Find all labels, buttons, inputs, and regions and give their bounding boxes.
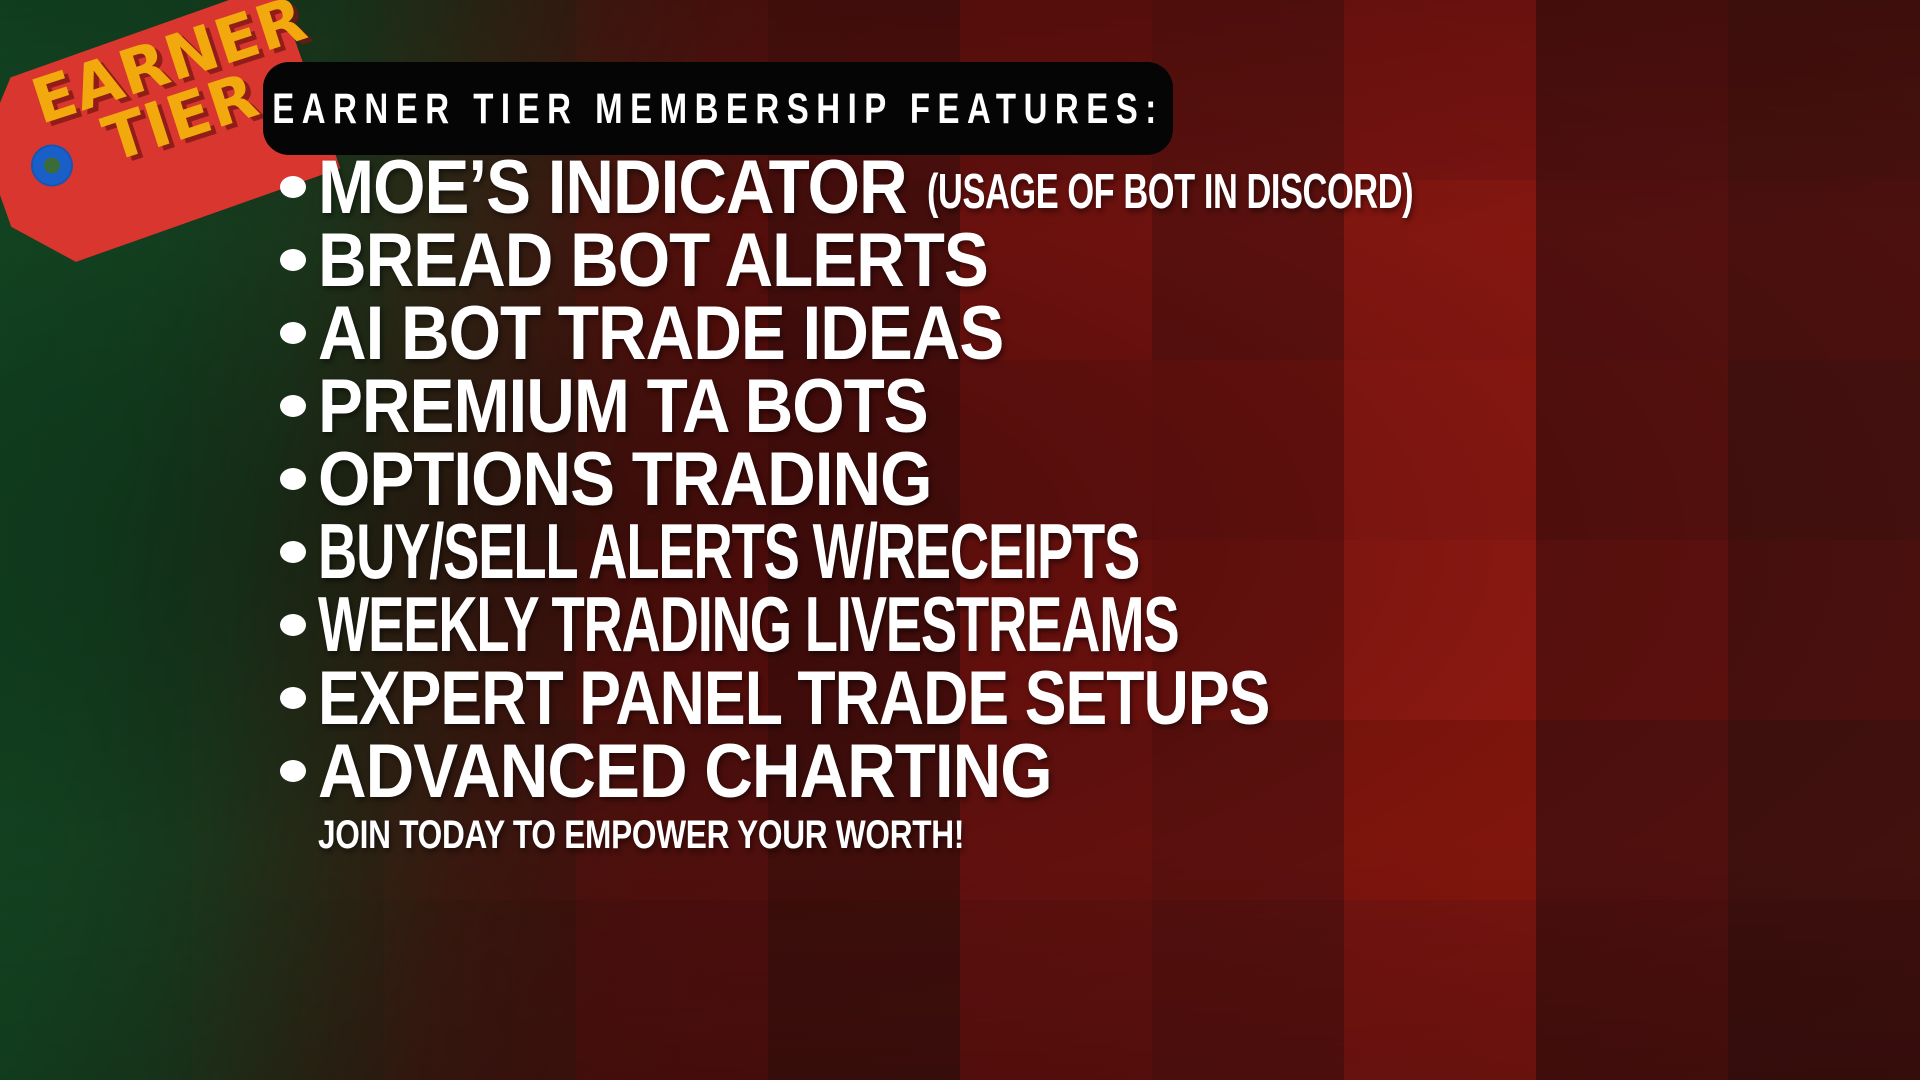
- feature-label: WEEKLY TRADING LIVESTREAMS: [318, 586, 1178, 664]
- feature-label: MOE’S INDICATOR: [318, 148, 907, 224]
- feature-item: ADVANCED CHARTING: [272, 734, 1892, 807]
- feature-item: BUY/SELL ALERTS W/RECEIPTS: [272, 515, 1892, 588]
- promo-graphic: EARNER TIER EARNER TIER MEMBERSHIP FEATU…: [0, 0, 1920, 1080]
- header-banner: EARNER TIER MEMBERSHIP FEATURES:: [263, 62, 1173, 155]
- bullet-icon: [272, 614, 318, 636]
- feature-text-wrap: BUY/SELL ALERTS W/RECEIPTS: [318, 518, 1344, 586]
- feature-label: PREMIUM TA BOTS: [318, 367, 928, 443]
- feature-item: PREMIUM TA BOTS: [272, 369, 1892, 442]
- feature-text-wrap: BREAD BOT ALERTS: [318, 226, 995, 294]
- feature-item: MOE’S INDICATOR(USAGE OF BOT IN DISCORD): [272, 150, 1892, 223]
- feature-item: BREAD BOT ALERTS: [272, 223, 1892, 296]
- feature-item: AI BOT TRADE IDEAS: [272, 296, 1892, 369]
- feature-item: EXPERT PANEL TRADE SETUPS: [272, 661, 1892, 734]
- feature-item: WEEKLY TRADING LIVESTREAMS: [272, 588, 1892, 661]
- feature-text-wrap: MOE’S INDICATOR(USAGE OF BOT IN DISCORD): [318, 153, 1492, 221]
- bullet-icon: [272, 687, 318, 709]
- footer-cta: JOIN TODAY TO EMPOWER YOUR WORTH!: [272, 807, 1892, 863]
- feature-label: OPTIONS TRADING: [318, 440, 931, 516]
- feature-text-wrap: WEEKLY TRADING LIVESTREAMS: [318, 591, 1394, 659]
- feature-text-wrap: PREMIUM TA BOTS: [318, 372, 934, 440]
- bullet-icon: [272, 468, 318, 490]
- feature-note: (USAGE OF BOT IN DISCORD): [927, 165, 1413, 220]
- footer-cta-text: JOIN TODAY TO EMPOWER YOUR WORTH!: [318, 812, 964, 858]
- feature-text-wrap: ADVANCED CHARTING: [318, 737, 1059, 805]
- bullet-icon: [272, 322, 318, 344]
- feature-list: MOE’S INDICATOR(USAGE OF BOT IN DISCORD)…: [272, 150, 1892, 863]
- feature-label: EXPERT PANEL TRADE SETUPS: [318, 659, 1269, 735]
- bullet-icon: [272, 395, 318, 417]
- bullet-icon: [272, 176, 318, 198]
- feature-text-wrap: AI BOT TRADE IDEAS: [318, 299, 1010, 367]
- bullet-icon: [272, 760, 318, 782]
- feature-label: BREAD BOT ALERTS: [318, 221, 988, 297]
- feature-text-wrap: OPTIONS TRADING: [318, 445, 938, 513]
- feature-item: OPTIONS TRADING: [272, 442, 1892, 515]
- bullet-icon: [272, 541, 318, 563]
- header-title: EARNER TIER MEMBERSHIP FEATURES:: [272, 84, 1164, 133]
- feature-text-wrap: EXPERT PANEL TRADE SETUPS: [318, 664, 1352, 732]
- feature-label: AI BOT TRADE IDEAS: [318, 294, 1003, 370]
- feature-label: ADVANCED CHARTING: [318, 732, 1052, 808]
- bullet-icon: [272, 249, 318, 271]
- feature-label: BUY/SELL ALERTS W/RECEIPTS: [318, 513, 1139, 591]
